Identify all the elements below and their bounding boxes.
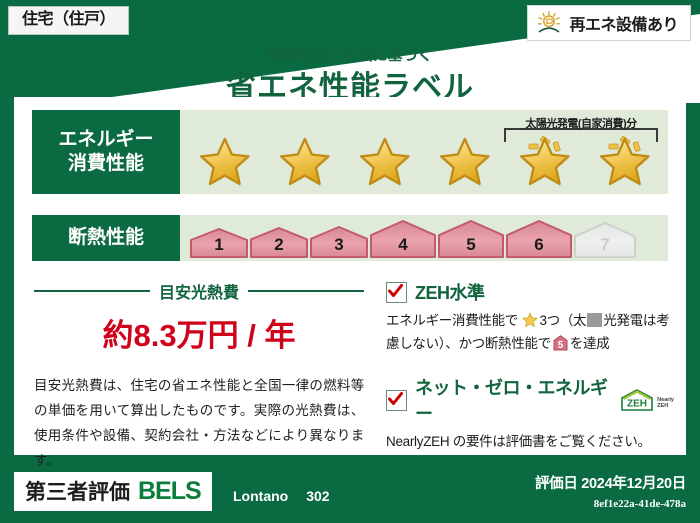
insulation-performance-row: 断熱性能 1234567 xyxy=(32,215,668,261)
insulation-level-number: 7 xyxy=(600,235,609,258)
utility-cost-heading-label: 目安光熱費 xyxy=(159,279,239,303)
insulation-level-number: 6 xyxy=(534,235,543,258)
evaluation-id: 8ef1e22a-41de-478a xyxy=(594,498,686,510)
zeh-standard-checkbox[interactable] xyxy=(386,282,407,303)
inline-star-icon xyxy=(522,312,538,328)
insulation-level-number: 4 xyxy=(398,235,407,258)
renewable-equipment-badge: 再エネ設備あり xyxy=(527,5,691,41)
insulation-level-6: 6 xyxy=(506,220,572,258)
utility-cost-heading: 目安光熱費 xyxy=(34,279,364,303)
insulation-performance-label: 断熱性能 xyxy=(32,215,180,261)
insulation-level-scale: 1234567 xyxy=(180,215,668,261)
renewable-badge-label: 再エネ設備あり xyxy=(569,11,678,35)
third-party-label: 第三者評価 xyxy=(25,476,130,506)
energy-label-root: 建築物省エネ法に基づく 省エネ性能ラベル 住宅（住戸） 再エネ設備あり xyxy=(0,0,700,523)
energy-performance-label: エネルギー 消費性能 xyxy=(32,110,180,194)
heading-rule-left xyxy=(34,290,150,292)
zeh-section: ZEH水準 エネルギー消費性能で 3つ（太光発電は考慮しない）、かつ断熱性能で … xyxy=(386,279,674,454)
bels-certification-box: 第三者評価 BELS xyxy=(14,472,212,511)
zeh-desc-part3: を達成 xyxy=(570,336,610,351)
energy-label-line1: エネルギー xyxy=(58,128,153,152)
header-subtitle: 建築物省エネ法に基づく xyxy=(0,44,700,65)
energy-performance-row: エネルギー 消費性能 太陽光発電(自家消費)分 xyxy=(32,110,668,194)
zeh-standard-title: ZEH水準 xyxy=(415,279,485,305)
zeh-standard-row: ZEH水準 xyxy=(386,279,674,305)
insulation-level-5: 5 xyxy=(438,220,504,258)
zeh-logo: ZEH Nearly ZEH xyxy=(619,388,674,412)
star-4 xyxy=(428,124,502,192)
utility-cost-section: 目安光熱費 約8.3万円 / 年 目安光熱費は、住宅の省エネ性能と全国一律の燃料… xyxy=(34,279,364,474)
insulation-level-2: 2 xyxy=(250,227,308,258)
star-3 xyxy=(348,124,422,192)
insulation-level-number: 1 xyxy=(214,235,223,258)
star-icon xyxy=(268,124,342,192)
net-zero-description: NearlyZEH の要件は評価書をご覧ください。 xyxy=(386,430,674,453)
check-icon xyxy=(388,284,403,299)
unit-number: 302 xyxy=(306,488,329,504)
insulation-level-1: 1 xyxy=(190,228,248,258)
star-1 xyxy=(188,124,262,192)
star-icon xyxy=(188,124,262,192)
net-zero-title: ネット・ゼロ・エネルギー xyxy=(415,374,611,426)
zeh-desc-stars: 3つ（太 xyxy=(539,313,586,328)
zeh-logo-text: ZEH xyxy=(627,399,647,410)
sun-icon xyxy=(536,10,562,36)
solar-bracket: 太陽光発電(自家消費)分 xyxy=(504,128,658,142)
evaluation-date: 評価日 2024年12月20日 xyxy=(535,472,686,493)
zeh-logo-subtext: Nearly ZEH xyxy=(657,397,674,412)
building-name: Lontano xyxy=(233,488,288,504)
redaction-block xyxy=(587,313,602,327)
inline-house-number: 5 xyxy=(553,337,568,354)
insulation-level-number: 2 xyxy=(274,235,283,258)
zeh-logo-sub2: ZEH xyxy=(657,403,668,409)
insulation-level-4: 4 xyxy=(370,220,436,258)
utility-cost-value: 約8.3万円 / 年 xyxy=(34,310,364,355)
energy-star-panel: 太陽光発電(自家消費)分 xyxy=(180,110,668,194)
insulation-level-3: 3 xyxy=(310,226,368,258)
zeh-desc-part1: エネルギー消費性能で xyxy=(386,313,518,328)
heading-rule-right xyxy=(248,290,364,292)
net-zero-checkbox[interactable] xyxy=(386,390,407,411)
bels-label: BELS xyxy=(138,477,201,506)
utility-cost-note: 目安光熱費は、住宅の省エネ性能と全国一律の燃料等の単価を用いて算出したものです。… xyxy=(34,374,364,474)
insulation-level-number: 3 xyxy=(334,235,343,258)
main-card: エネルギー 消費性能 太陽光発電(自家消費)分 断熱性能 1234567 目安光… xyxy=(14,97,686,455)
insulation-level-7: 7 xyxy=(574,222,636,258)
building-type-tab: 住宅（住戸） xyxy=(8,6,129,35)
insulation-level-number: 5 xyxy=(466,235,475,258)
net-zero-row: ネット・ゼロ・エネルギー ZEH Nearly ZEH xyxy=(386,374,674,426)
zeh-house-logo-icon: ZEH xyxy=(619,388,655,412)
check-icon xyxy=(388,392,403,407)
insulation-level-panel: 1234567 xyxy=(180,215,668,261)
star-icon xyxy=(348,124,422,192)
inline-house-badge: 5 xyxy=(553,335,568,358)
energy-label-line2: 消費性能 xyxy=(68,152,144,176)
building-identity: Lontano 302 xyxy=(233,488,330,504)
zeh-standard-description: エネルギー消費性能で 3つ（太光発電は考慮しない）、かつ断熱性能で 5 を達成 xyxy=(386,309,674,358)
star-icon xyxy=(428,124,502,192)
solar-caption: 太陽光発電(自家消費)分 xyxy=(506,115,656,131)
star-2 xyxy=(268,124,342,192)
